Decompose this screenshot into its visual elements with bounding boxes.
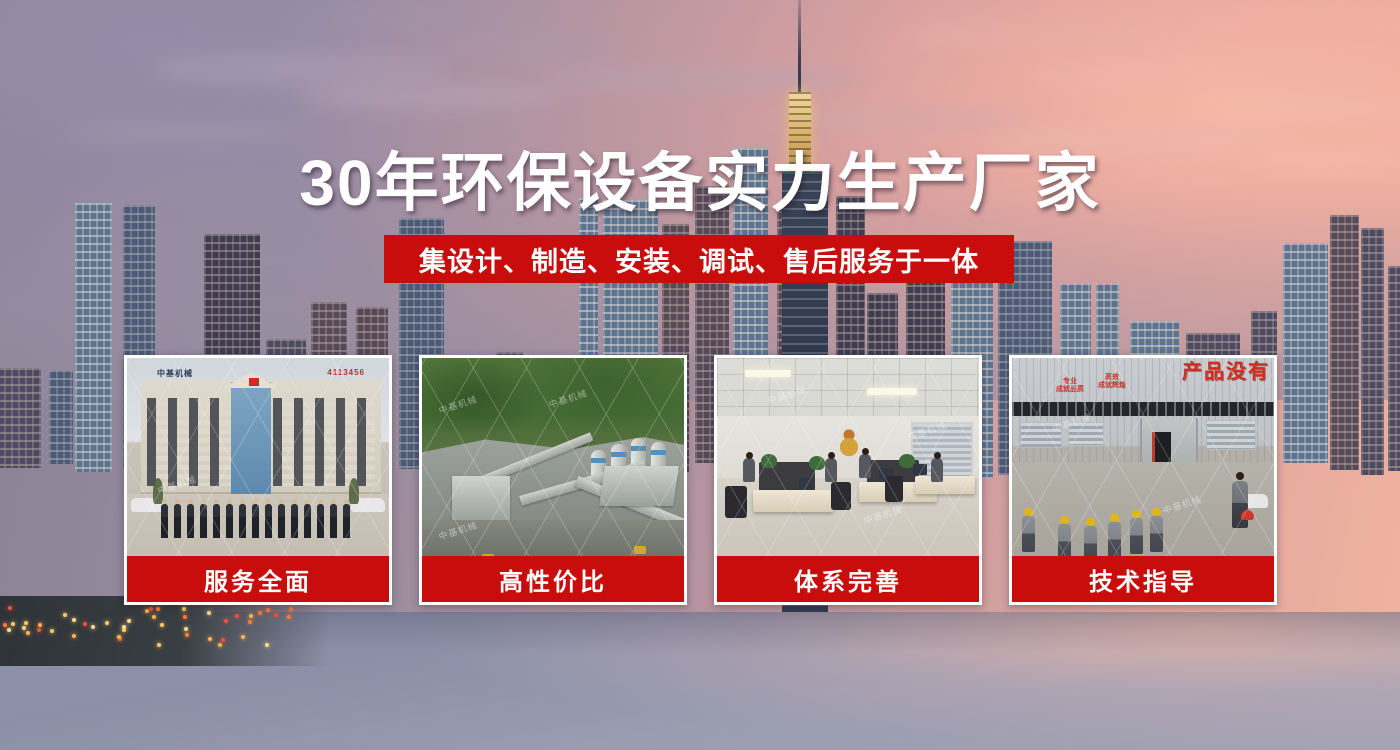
processing-tower: [452, 476, 510, 522]
card-photo-office-building: 中基机械 4113456 中基机械: [127, 358, 389, 556]
skyline-building: [1330, 215, 1359, 470]
street-light: [156, 607, 160, 611]
street-light: [26, 631, 30, 635]
street-light: [8, 606, 12, 610]
street-light: [274, 613, 278, 617]
street-light: [7, 628, 11, 632]
company-phone-text: 4113456: [327, 368, 365, 377]
card-photo-technical-guidance: 产品没有 专业成就品质 高效成就辉煌 中基机械 中基机械: [1012, 358, 1274, 556]
skyline-building: [0, 368, 41, 468]
street-light: [157, 643, 161, 647]
potted-plant: [809, 456, 825, 470]
red-helmet: [1241, 510, 1254, 520]
staff-person: [291, 504, 298, 538]
building-atrium-glass: [231, 382, 271, 498]
tower-antenna: [798, 0, 801, 96]
staff-person: [252, 504, 259, 538]
street-light: [37, 628, 41, 632]
skyline-building: [1283, 243, 1328, 463]
feature-card[interactable]: 中基机械 4113456 中基机械 服务全面: [124, 355, 392, 605]
street-light: [208, 637, 212, 641]
street-light: [152, 615, 156, 619]
street-light: [248, 620, 252, 624]
monitor: [913, 464, 927, 475]
staff-person: [330, 504, 337, 538]
card-photo-office-interior: 中基机械 中基机械 中基机械: [717, 358, 979, 556]
street-light: [63, 613, 67, 617]
street-light: [184, 627, 188, 631]
street-light: [241, 635, 245, 639]
card-photo-plant-aerial: 中基机械 中基机械 中基机械: [422, 358, 684, 556]
card-caption-bar: 高性价比: [422, 556, 684, 602]
potted-plant: [761, 454, 777, 468]
staff-person: [187, 504, 194, 538]
skyline-building: [1388, 266, 1400, 471]
street-light: [83, 622, 87, 626]
cloud: [430, 36, 630, 58]
side-door: [1152, 432, 1171, 462]
bank-lights: [0, 604, 300, 648]
street-light: [50, 629, 54, 633]
staff-person: [343, 504, 350, 538]
street-light: [183, 615, 187, 619]
street-light: [287, 615, 291, 619]
flag-icon: [249, 378, 259, 386]
feature-card-list: 中基机械 4113456 中基机械 服务全面: [124, 355, 1277, 605]
person-seated: [743, 458, 755, 482]
street-light: [258, 611, 262, 615]
ceiling-lamp: [745, 370, 791, 377]
street-light: [218, 643, 222, 647]
worker-person: [1084, 518, 1097, 556]
staff-person: [161, 504, 168, 538]
ceiling-grid: [717, 358, 979, 418]
factory-slogan-mid: 高效成就辉煌: [1098, 374, 1126, 390]
banner-stage: 30年环保设备实力生产厂家 集设计、制造、安装、调试、售后服务于一体 中基机械 …: [0, 0, 1400, 750]
street-light: [224, 619, 228, 623]
skyline-building: [75, 203, 112, 472]
factory-slogan-left: 专业成就品质: [1056, 378, 1084, 394]
card-caption-text: 高性价比: [499, 562, 607, 597]
street-light: [266, 608, 270, 612]
street-light: [22, 626, 26, 630]
monitor: [799, 478, 813, 489]
excavator: [482, 554, 494, 556]
staff-person: [317, 504, 324, 538]
cloud: [330, 8, 550, 28]
desk: [915, 476, 975, 494]
street-light: [38, 623, 42, 627]
factory-window: [1206, 420, 1256, 450]
worker-person: [1058, 516, 1071, 556]
card-caption-text: 技术指导: [1089, 562, 1197, 597]
street-light: [182, 607, 186, 611]
street-light: [249, 614, 253, 618]
card-caption-bar: 服务全面: [127, 556, 389, 602]
street-light: [72, 634, 76, 638]
feature-card[interactable]: 中基机械 中基机械 中基机械 高性价比: [419, 355, 687, 605]
staff-lineup: [161, 498, 351, 538]
chair: [885, 476, 903, 502]
street-light: [91, 625, 95, 629]
street-light: [11, 622, 15, 626]
plant-block: [599, 466, 679, 506]
feature-card[interactable]: 中基机械 中基机械 中基机械 体系完善: [714, 355, 982, 605]
staff-person: [304, 504, 311, 538]
street-light: [235, 614, 239, 618]
street-light: [207, 611, 211, 615]
staff-person: [239, 504, 246, 538]
street-light: [24, 621, 28, 625]
skyline-building: [49, 370, 73, 464]
staff-person: [226, 504, 233, 538]
factory-slogan-large: 产品没有: [1182, 362, 1270, 382]
card-caption-bar: 体系完善: [717, 556, 979, 602]
cloud: [1020, 60, 1380, 90]
skyline-building: [1361, 228, 1384, 475]
street-light: [3, 623, 7, 627]
staff-person: [174, 504, 181, 538]
card-caption-bar: 技术指导: [1012, 556, 1274, 602]
person-seated: [859, 454, 871, 478]
street-light: [265, 643, 269, 647]
subtitle-text: 集设计、制造、安装、调试、售后服务于一体: [419, 240, 979, 279]
facade-window-strip: [1012, 402, 1274, 416]
worker-person: [1130, 510, 1143, 554]
staff-person: [265, 504, 272, 538]
worker-person: [1022, 508, 1035, 552]
person-seated: [825, 458, 837, 482]
excavator: [634, 546, 646, 554]
worker-person: [1108, 514, 1121, 556]
cloud: [150, 52, 450, 86]
street-light: [185, 633, 189, 637]
desk: [753, 490, 833, 512]
feature-card[interactable]: 产品没有 专业成就品质 高效成就辉煌 中基机械 中基机械 技术指导: [1009, 355, 1277, 605]
card-caption-text: 体系完善: [794, 562, 902, 597]
cloud: [900, 22, 1200, 50]
staff-person: [278, 504, 285, 538]
street-light: [221, 638, 225, 642]
street-light: [72, 618, 76, 622]
subtitle-banner: 集设计、制造、安装、调试、售后服务于一体: [384, 235, 1014, 283]
company-sign-text: 中基机械: [157, 368, 193, 379]
card-caption-text: 服务全面: [204, 562, 312, 597]
staff-person: [200, 504, 207, 538]
chair: [725, 486, 747, 518]
street-light: [127, 619, 131, 623]
cloud: [300, 84, 560, 110]
worker-person: [1150, 508, 1163, 552]
person-seated: [931, 458, 943, 482]
cloud: [540, 66, 870, 92]
page-title: 30年环保设备实力生产厂家: [0, 132, 1400, 224]
staff-person: [213, 504, 220, 538]
street-light: [289, 607, 293, 611]
street-light: [149, 607, 153, 611]
chair: [831, 482, 851, 510]
ceiling-lamp: [867, 388, 917, 395]
street-light: [105, 621, 109, 625]
street-light: [160, 623, 164, 627]
